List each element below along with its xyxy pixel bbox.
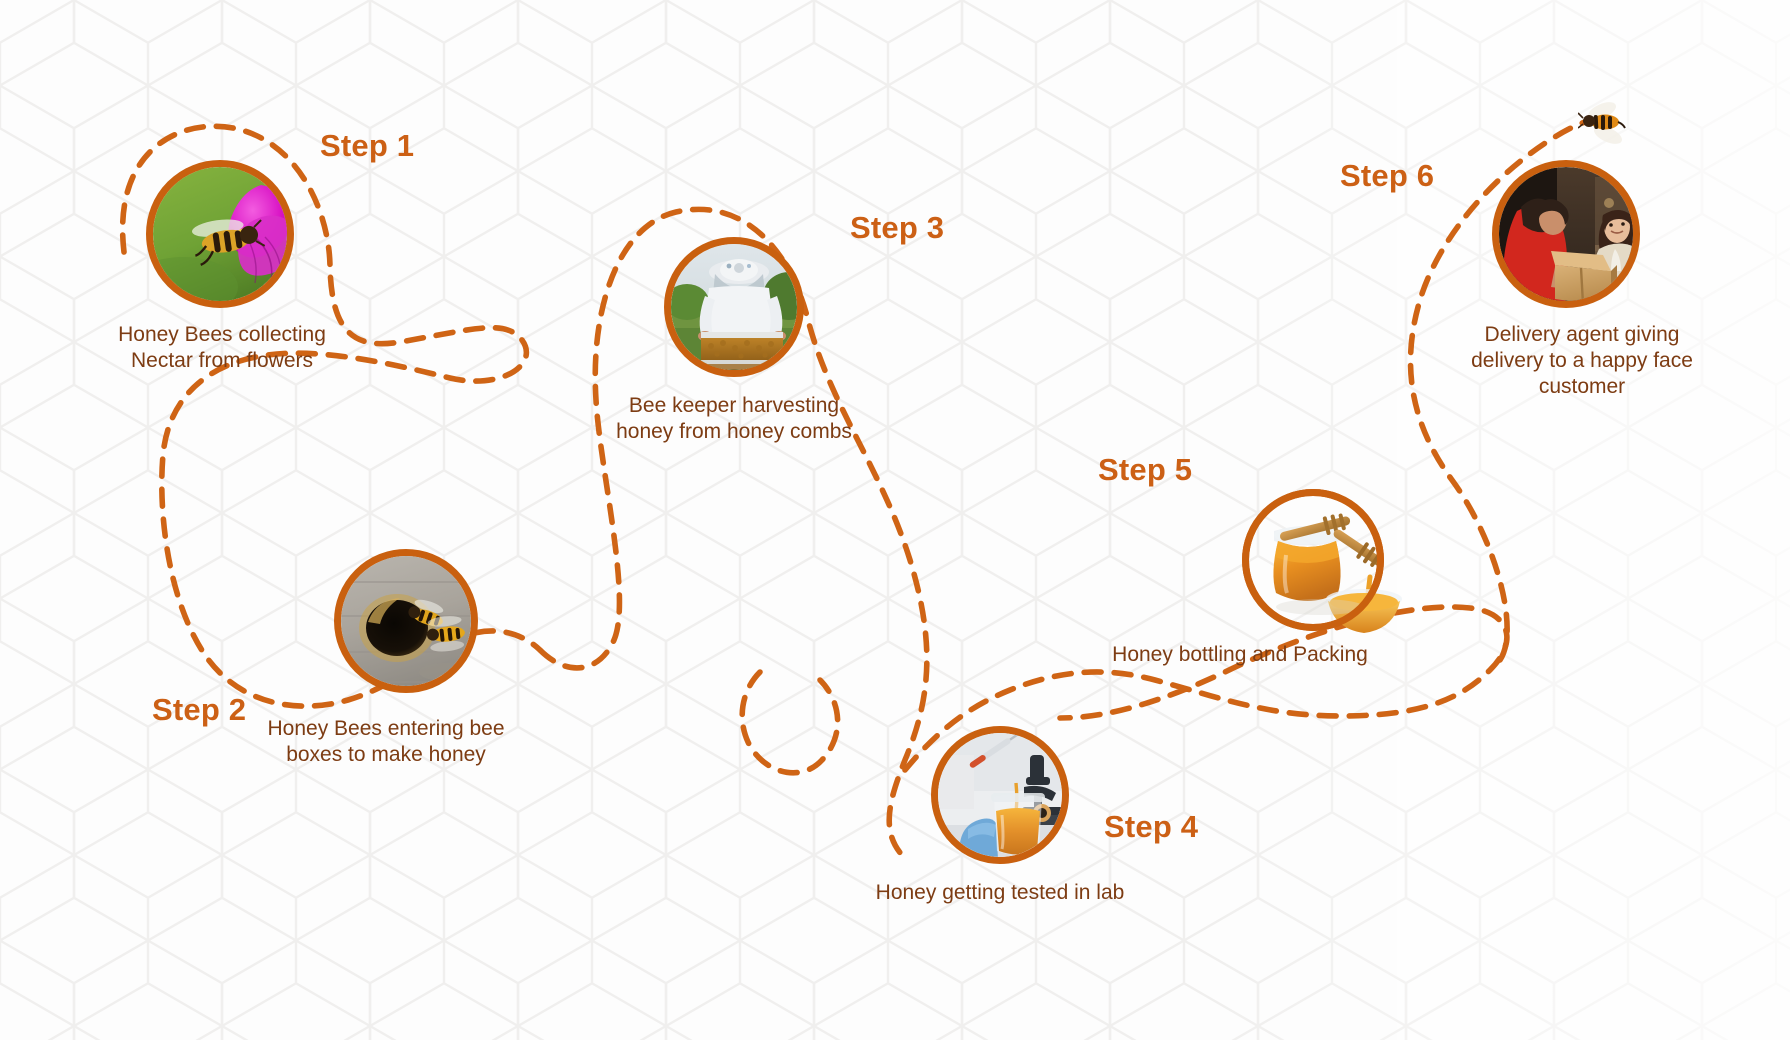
step-3-label: Step 3 bbox=[850, 210, 944, 246]
step-3-image[interactable] bbox=[664, 237, 804, 377]
bee-on-pink-flower-photo bbox=[153, 167, 287, 301]
step-5-label: Step 5 bbox=[1098, 452, 1192, 488]
delivery-handover-photo bbox=[1499, 167, 1633, 301]
step-1-caption: Honey Bees collecting Nectar from flower… bbox=[72, 322, 372, 374]
step-6-caption: Delivery agent giving delivery to a happ… bbox=[1462, 322, 1702, 399]
honey-lab-testing-photo bbox=[938, 733, 1062, 857]
step-4-image[interactable] bbox=[931, 726, 1069, 864]
step-1-label: Step 1 bbox=[320, 128, 414, 164]
step-2-caption: Honey Bees entering bee boxes to make ho… bbox=[256, 716, 516, 768]
step-5-caption: Honey bottling and Packing bbox=[1040, 642, 1440, 668]
step-5-image[interactable] bbox=[1242, 489, 1384, 631]
step-6-label: Step 6 bbox=[1340, 158, 1434, 194]
step-4-caption: Honey getting tested in lab bbox=[810, 880, 1190, 906]
step-4-label: Step 4 bbox=[1104, 809, 1198, 845]
step-2-label: Step 2 bbox=[152, 692, 246, 728]
step-3-caption: Bee keeper harvesting honey from honey c… bbox=[604, 393, 864, 445]
bees-entering-hive-hole-photo bbox=[341, 556, 471, 686]
step-5-ring bbox=[1242, 489, 1384, 631]
step-6-image[interactable] bbox=[1492, 160, 1640, 308]
bee-icon bbox=[1578, 100, 1632, 144]
step-2-image[interactable] bbox=[334, 549, 478, 693]
beekeeper-harvesting-photo bbox=[671, 244, 797, 370]
step-1-image[interactable] bbox=[146, 160, 294, 308]
infographic-canvas: Step 1 Honey Bees collecting Nectar from… bbox=[0, 0, 1790, 1040]
